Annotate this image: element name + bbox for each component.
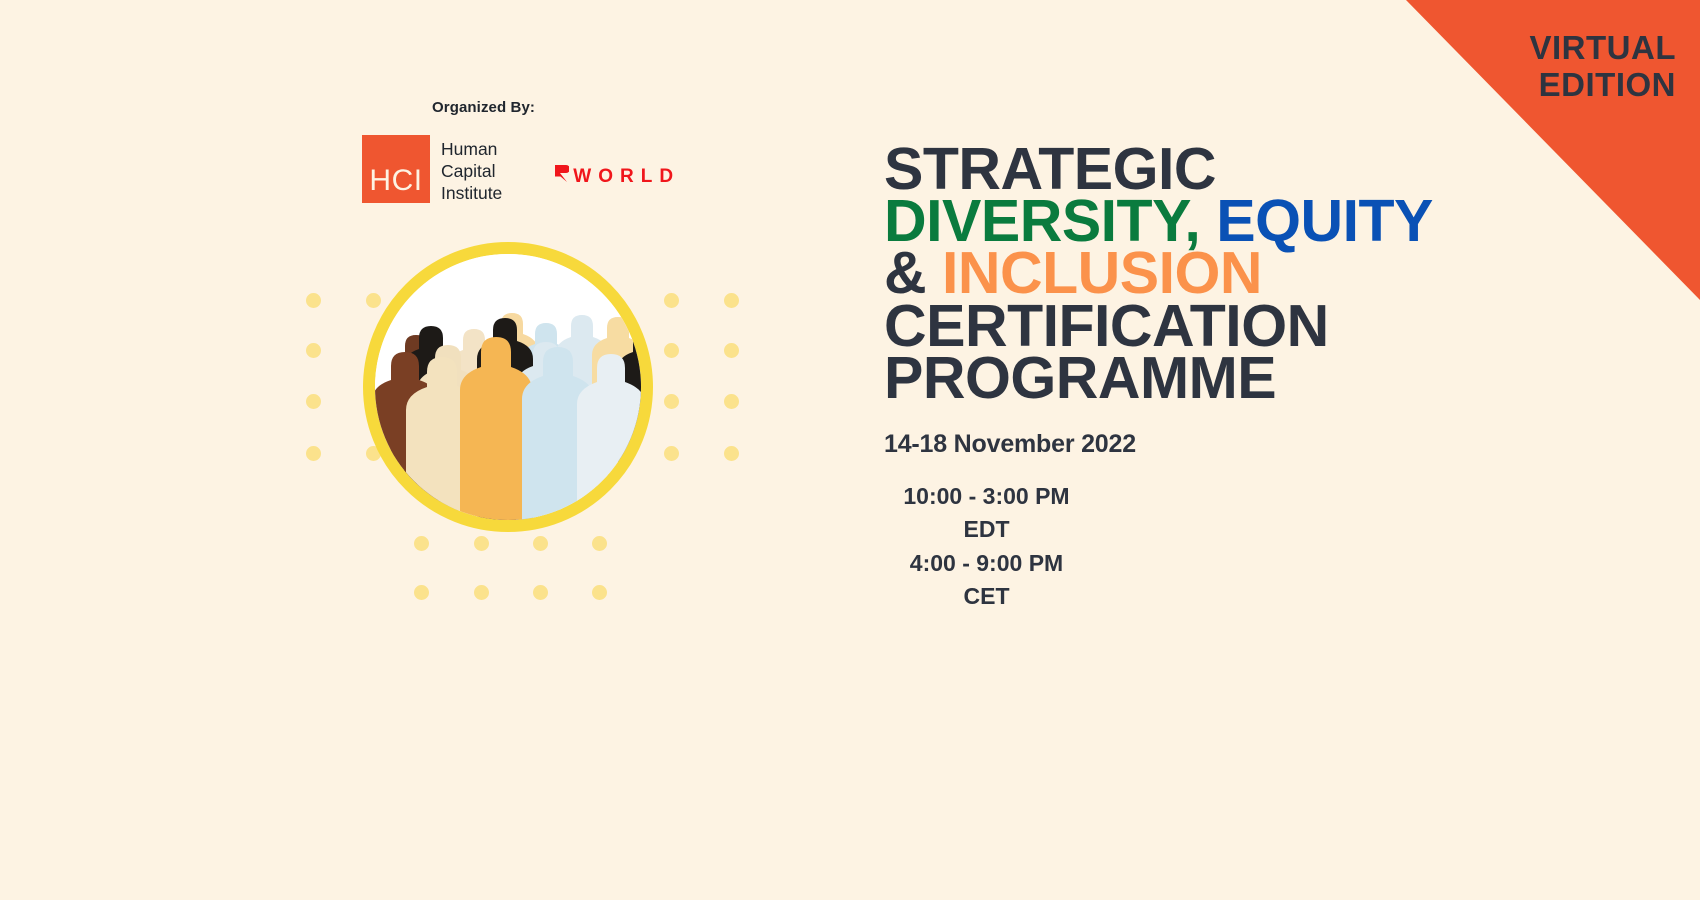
pworld-logo-word: WORLD (573, 166, 680, 188)
virtual-edition-line-1: VIRTUAL (1530, 30, 1677, 67)
decorative-dot (306, 293, 321, 308)
decorative-dot (306, 446, 321, 461)
organizer-logos: HCI Human Capital Institute WORLD (362, 135, 680, 204)
decorative-dot (664, 446, 679, 461)
organized-by-label: Organized By: (432, 99, 535, 116)
decorative-dot (724, 394, 739, 409)
hci-logo-mark-text: HCI (369, 166, 422, 203)
decorative-dot (724, 293, 739, 308)
event-time-cet: 4:00 - 9:00 PM CET (884, 547, 1089, 614)
hero-image-circle (363, 242, 653, 532)
pworld-logo: WORLD (554, 164, 680, 189)
hci-name-line-2: Capital (441, 160, 502, 182)
diverse-people-paper-cutouts-image (375, 254, 641, 520)
decorative-dot (414, 585, 429, 600)
event-date: 14-18 November 2022 (884, 430, 1136, 459)
decorative-dot (664, 343, 679, 358)
virtual-edition-line-2: EDITION (1530, 67, 1677, 104)
virtual-edition-text: VIRTUAL EDITION (1530, 30, 1677, 104)
decorative-dot (306, 394, 321, 409)
left-visual-column: Organized By: HCI Human Capital Institut… (0, 0, 860, 900)
hci-name-line-3: Institute (441, 182, 502, 204)
decorative-dot (474, 585, 489, 600)
decorative-dot (414, 536, 429, 551)
decorative-dot (664, 293, 679, 308)
decorative-dot (533, 585, 548, 600)
hci-logo-mark: HCI (362, 135, 430, 203)
event-time-edt: 10:00 - 3:00 PM EDT (884, 480, 1089, 547)
event-times: 10:00 - 3:00 PM EDT 4:00 - 9:00 PM CET (884, 480, 1089, 613)
pworld-logo-mark (554, 164, 569, 189)
decorative-dot (592, 536, 607, 551)
decorative-dot (724, 446, 739, 461)
hci-logo-wordmark: Human Capital Institute (441, 135, 502, 204)
decorative-dot (724, 343, 739, 358)
hci-name-line-1: Human (441, 138, 502, 160)
decorative-dot (592, 585, 607, 600)
hci-logo: HCI Human Capital Institute (362, 135, 502, 204)
headline-programme: PROGRAMME (884, 345, 1276, 411)
decorative-dot (474, 536, 489, 551)
page-title: STRATEGIC DIVERSITY, EQUITY & INCLUSION … (884, 143, 1433, 404)
decorative-dot (664, 394, 679, 409)
decorative-dot (533, 536, 548, 551)
headline-line-5: PROGRAMME (884, 352, 1433, 404)
decorative-dot (306, 343, 321, 358)
